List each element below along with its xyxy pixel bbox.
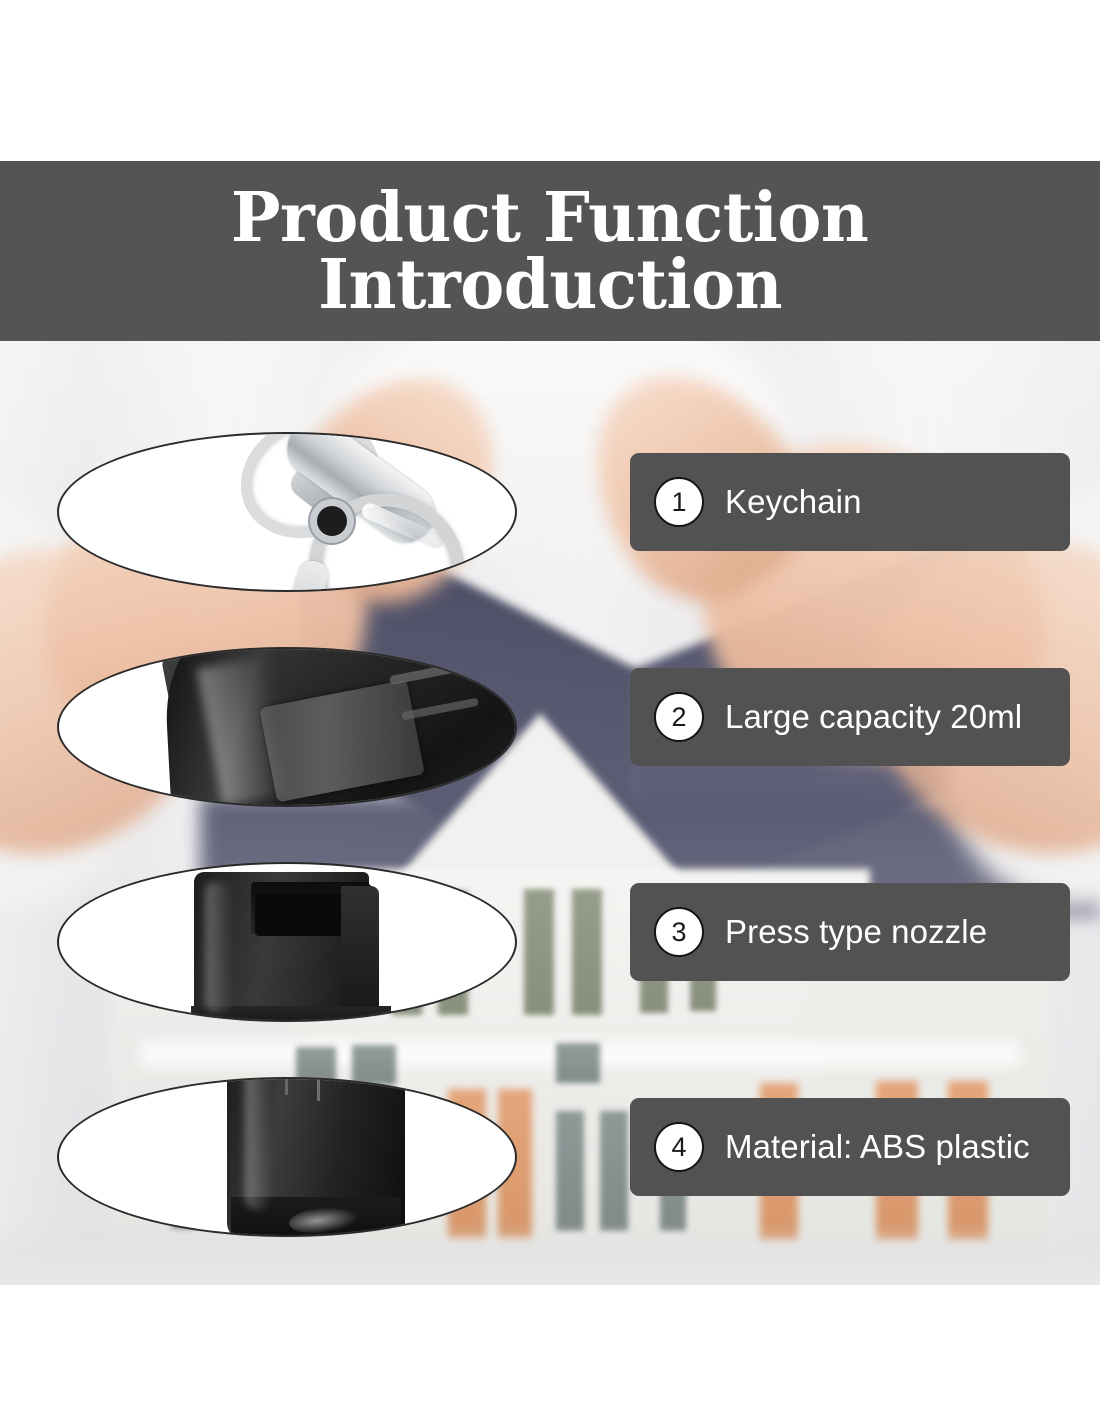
house-window-lower [556,1111,584,1231]
feature-label-text-1: Keychain [725,483,862,521]
bottle-body-icon [59,649,515,805]
feature-number-badge-4: 4 [654,1122,704,1172]
infographic-page: Product Function Introduction [0,0,1100,1422]
bottle-bottom-slit [317,1077,320,1101]
press-nozzle-icon [59,864,515,1020]
callout-oval-nozzle [57,862,517,1022]
page-title-line-2: Introduction [318,252,782,319]
feature-number-badge-1: 1 [654,477,704,527]
feature-label-4[interactable]: 4 Material: ABS plastic [630,1098,1070,1196]
keychain-rivet [317,506,347,536]
keychain-clasp-icon [59,434,515,590]
house-window-lower [556,1043,600,1083]
house-window [572,889,602,1015]
feature-label-3[interactable]: 3 Press type nozzle [630,883,1070,981]
callout-oval-capacity [57,647,517,807]
house-window [524,889,554,1015]
callout-oval-keychain [57,432,517,592]
product-photo-stage: 1 Keychain 2 Large capacity 20ml 3 Press… [0,341,1100,1285]
feature-label-2[interactable]: 2 Large capacity 20ml [630,668,1070,766]
feature-label-text-3: Press type nozzle [725,913,987,951]
house-ground-band [0,1241,1100,1285]
house-window-lower [600,1111,628,1231]
callout-oval-material [57,1077,517,1237]
title-banner: Product Function Introduction [0,161,1100,341]
feature-label-text-2: Large capacity 20ml [725,698,1022,736]
bottle-bottom-icon [59,1079,515,1235]
bottle-bottom-sheen [245,1077,271,1209]
nozzle-right-wall [341,886,379,1022]
feature-label-1[interactable]: 1 Keychain [630,453,1070,551]
feature-number-badge-3: 3 [654,907,704,957]
feature-label-text-4: Material: ABS plastic [725,1128,1030,1166]
nozzle-sheen [205,882,233,1012]
page-title-line-1: Product Function [231,185,868,252]
feature-number-badge-2: 2 [654,692,704,742]
bottle-bottom-slit [285,1077,288,1095]
